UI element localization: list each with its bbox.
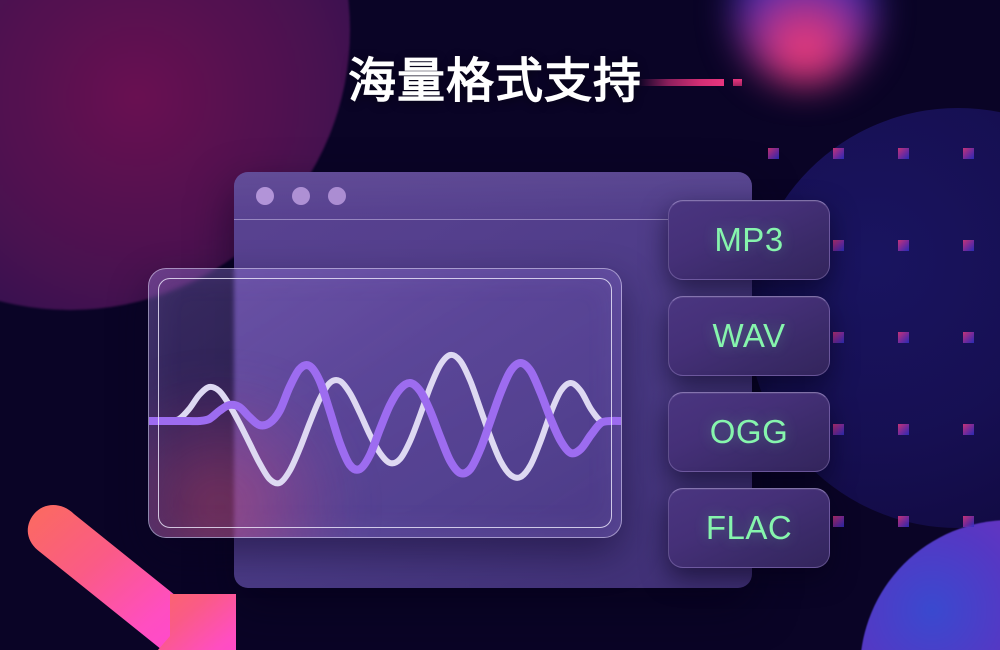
format-badge-label: OGG xyxy=(710,413,789,451)
decor-grid-dot xyxy=(963,332,974,343)
format-badge-ogg[interactable]: OGG xyxy=(668,392,830,472)
decor-grid-dot xyxy=(898,424,909,435)
decor-grid-dot xyxy=(963,424,974,435)
headline-group: 海量格式支持 xyxy=(348,58,742,106)
decor-grid-dot xyxy=(963,516,974,527)
down-right-arrow-icon xyxy=(0,470,360,650)
decor-grid-dot xyxy=(833,148,844,159)
format-badge-wav[interactable]: WAV xyxy=(668,296,830,376)
decor-grid-dot xyxy=(833,424,844,435)
format-badge-label: MP3 xyxy=(714,221,783,259)
decor-grid-dot xyxy=(833,516,844,527)
window-dot-minimize[interactable] xyxy=(292,187,310,205)
format-badge-label: FLAC xyxy=(706,509,792,547)
decor-grid-dot xyxy=(963,148,974,159)
window-dot-maximize[interactable] xyxy=(328,187,346,205)
decor-grid-dot xyxy=(963,240,974,251)
decor-grid-dot xyxy=(898,332,909,343)
promo-banner: 海量格式支持 MP3WAVOGGFLAC xyxy=(0,0,1000,650)
headline-accent-dash xyxy=(733,79,742,86)
format-badge-flac[interactable]: FLAC xyxy=(668,488,830,568)
format-badge-label: WAV xyxy=(713,317,786,355)
page-title: 海量格式支持 xyxy=(348,58,642,106)
format-badge-mp3[interactable]: MP3 xyxy=(668,200,830,280)
decor-grid-dot xyxy=(833,240,844,251)
decor-grid-dot xyxy=(898,148,909,159)
headline-accent-rule xyxy=(638,79,724,86)
decor-grid-dot xyxy=(898,516,909,527)
format-badge-list: MP3WAVOGGFLAC xyxy=(668,200,830,584)
decor-grid-dot xyxy=(833,332,844,343)
decor-glow-topright xyxy=(735,0,875,85)
decor-grid-dot xyxy=(768,148,779,159)
decor-grid-dot xyxy=(898,240,909,251)
window-dot-close[interactable] xyxy=(256,187,274,205)
